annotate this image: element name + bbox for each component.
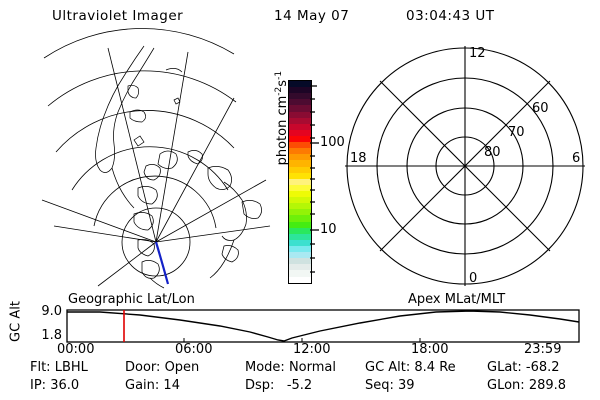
apex-dial-panel[interactable]: 12 6 0 18 60 70 80 [336, 40, 594, 292]
terminator-track [156, 242, 168, 284]
mlat-label-70: 70 [508, 125, 525, 140]
colorbar-band-32 [289, 277, 311, 283]
header-bar: Ultraviolet Imager 14 May 07 03:04:43 UT [0, 6, 600, 32]
colorbar-group[interactable]: photon cm-2s-1 10010 [264, 44, 334, 294]
colorbar-tick-10: 10 [320, 222, 337, 237]
status-ip: IP: 36.0 [30, 378, 79, 393]
orbit-xtick-0: 00:00 [57, 342, 94, 357]
status-door: Door: Open [125, 360, 199, 375]
instrument-title: Ultraviolet Imager [52, 8, 183, 24]
orbit-ytick-min: 1.8 [28, 328, 62, 343]
status-gc-alt: GC Alt: 8.4 Re [365, 360, 456, 375]
status-footer: Flt: LBHL Door: Open Mode: Normal GC Alt… [0, 360, 600, 400]
status-glon: GLon: 289.8 [487, 378, 566, 393]
status-gain: Gain: 14 [125, 378, 180, 393]
status-mode: Mode: Normal [245, 360, 336, 375]
status-flt: Flt: LBHL [30, 360, 88, 375]
orbit-xtick-4: 23:59 [524, 342, 561, 357]
status-glat: GLat: -68.2 [487, 360, 560, 375]
mlt-label-0: 0 [469, 271, 477, 286]
apex-mlat-mlt-dial: 12 6 0 18 60 70 80 [336, 40, 594, 292]
geographic-panel-caption: Geographic Lat/Lon [68, 292, 195, 307]
orbit-xtick-3: 18:00 [411, 342, 448, 357]
orbit-ytick-max: 9.0 [28, 304, 62, 319]
status-dsp: Dsp: -5.2 [245, 378, 312, 393]
status-seq: Seq: 39 [365, 378, 415, 393]
geographic-image-panel[interactable] [38, 40, 274, 292]
geographic-projection [38, 40, 274, 292]
mlt-label-6: 6 [572, 151, 580, 166]
orbit-xtick-1: 06:00 [175, 342, 212, 357]
orbit-xtick-2: 12:00 [293, 342, 330, 357]
mlat-label-80: 80 [484, 145, 501, 160]
observation-date: 14 May 07 [274, 8, 349, 24]
observation-time: 03:04:43 UT [406, 8, 495, 24]
colorbar-gradient [288, 80, 312, 284]
colorbar-tick-marks [310, 78, 326, 284]
mlt-label-12: 12 [469, 46, 486, 61]
apex-panel-caption: Apex MLat/MLT [408, 292, 505, 307]
mlt-label-18: 18 [350, 151, 367, 166]
mlat-label-60: 60 [532, 101, 549, 116]
orbit-altitude-plot[interactable]: GC Alt 9.0 1.8 00:00 06:00 12:00 18:00 2… [0, 306, 600, 358]
